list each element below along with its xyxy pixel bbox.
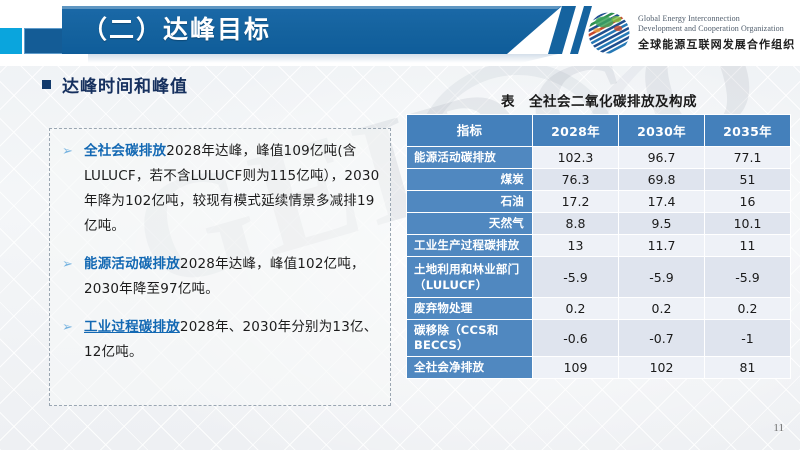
key-point-item: ➢能源活动碳排放2028年达峰，峰值102亿吨，2030年降至97亿吨。 [58, 252, 380, 302]
slide-header: （二）达峰目标 [0, 0, 800, 66]
table-body: 能源活动碳排放102.396.777.1煤炭76.369.851石油17.217… [407, 147, 791, 379]
header-title-bar-highlight [62, 6, 562, 9]
arrow-bullet-icon: ➢ [58, 139, 84, 239]
page-title: （二）达峰目标 [82, 14, 271, 46]
table-row-label: 天然气 [407, 213, 533, 235]
logo-chinese-name: 全球能源互联网发展合作组织 [638, 36, 795, 52]
key-point-keyword: 全社会碳排放 [84, 143, 166, 159]
header-bar-shadow [88, 54, 558, 63]
table-row-label: 工业生产过程碳排放 [407, 235, 533, 257]
organization-logo: Global Energy Interconnection Developmen… [586, 7, 796, 59]
table-cell-value: -1 [705, 320, 791, 357]
table-row: 天然气8.89.510.1 [407, 213, 791, 235]
table-header-year: 2028年 [533, 115, 619, 147]
table-cell-value: -5.9 [705, 257, 791, 298]
table-row: 碳移除（CCS和BECCS）-0.6-0.7-1 [407, 320, 791, 357]
logo-english-line1: Global Energy Interconnection [638, 14, 795, 24]
table-cell-value: -5.9 [619, 257, 705, 298]
table-row-label: 能源活动碳排放 [407, 147, 533, 169]
key-point-item: ➢工业过程碳排放2028年、2030年分别为13亿、12亿吨。 [58, 315, 380, 365]
table-cell-value: 11 [705, 235, 791, 257]
square-bullet-icon [42, 80, 51, 89]
key-point-item: ➢全社会碳排放2028年达峰，峰值109亿吨(含LULUCF，若不含LULUCF… [58, 139, 380, 239]
page-number: 11 [773, 422, 784, 434]
table-row-label: 石油 [407, 191, 533, 213]
arrow-bullet-icon: ➢ [58, 252, 84, 302]
table-cell-value: 0.2 [705, 298, 791, 320]
table-cell-value: 77.1 [705, 147, 791, 169]
table-row-label: 废弃物处理 [407, 298, 533, 320]
table-header-year: 2035年 [705, 115, 791, 147]
key-point-keyword: 能源活动碳排放 [84, 256, 180, 272]
logo-english-line2: Development and Cooperation Organization [638, 24, 795, 34]
table-cell-value: 102.3 [533, 147, 619, 169]
table-cell-value: 9.5 [619, 213, 705, 235]
table-head: 指标2028年2030年2035年 [407, 115, 791, 147]
table-row-label: 全社会净排放 [407, 357, 533, 379]
table-row-label: 煤炭 [407, 169, 533, 191]
key-point-keyword: 工业过程碳排放 [84, 319, 180, 335]
table-cell-value: 69.8 [619, 169, 705, 191]
slide-canvas: GEIDCO （二）达峰目标 [0, 0, 800, 450]
section-heading: 达峰时间和峰值 [42, 72, 188, 97]
table-cell-value: 11.7 [619, 235, 705, 257]
table-row-label: 碳移除（CCS和BECCS） [407, 320, 533, 357]
header-accent-square-cyan [0, 28, 22, 54]
table-cell-value: 0.2 [619, 298, 705, 320]
table-cell-value: 109 [533, 357, 619, 379]
table-cell-value: -0.7 [619, 320, 705, 357]
table-cell-value: 13 [533, 235, 619, 257]
table-row: 石油17.217.416 [407, 191, 791, 213]
globe-icon [586, 10, 632, 56]
table-row: 工业生产过程碳排放1311.711 [407, 235, 791, 257]
table-row: 全社会净排放10910281 [407, 357, 791, 379]
table-cell-value: 10.1 [705, 213, 791, 235]
table-row: 土地利用和林业部门（LULUCF）-5.9-5.9-5.9 [407, 257, 791, 298]
table-cell-value: -0.6 [533, 320, 619, 357]
table-row: 能源活动碳排放102.396.777.1 [407, 147, 791, 169]
table-row: 废弃物处理0.20.20.2 [407, 298, 791, 320]
key-points-panel: ➢全社会碳排放2028年达峰，峰值109亿吨(含LULUCF，若不含LULUCF… [49, 128, 391, 406]
table-cell-value: 102 [619, 357, 705, 379]
table-cell-value: 16 [705, 191, 791, 213]
table-caption: 表 全社会二氧化碳排放及构成 [406, 90, 792, 110]
table-row-label: 土地利用和林业部门（LULUCF） [407, 257, 533, 298]
emissions-table: 指标2028年2030年2035年 能源活动碳排放102.396.777.1煤炭… [406, 114, 791, 379]
table-cell-value: 76.3 [533, 169, 619, 191]
table-cell-value: 96.7 [619, 147, 705, 169]
table-header-year: 2030年 [619, 115, 705, 147]
table-cell-value: 8.8 [533, 213, 619, 235]
table-cell-value: 51 [705, 169, 791, 191]
logo-textblock: Global Energy Interconnection Developmen… [638, 14, 795, 52]
table-cell-value: 0.2 [533, 298, 619, 320]
section-heading-label: 达峰时间和峰值 [62, 72, 188, 97]
key-point-text: 能源活动碳排放2028年达峰，峰值102亿吨，2030年降至97亿吨。 [84, 252, 380, 302]
arrow-bullet-icon: ➢ [58, 315, 84, 365]
table-cell-value: 17.2 [533, 191, 619, 213]
table-row: 煤炭76.369.851 [407, 169, 791, 191]
key-point-text: 工业过程碳排放2028年、2030年分别为13亿、12亿吨。 [84, 315, 380, 365]
table-cell-value: 81 [705, 357, 791, 379]
key-point-text: 全社会碳排放2028年达峰，峰值109亿吨(含LULUCF，若不含LULUCF则… [84, 139, 380, 239]
table-cell-value: -5.9 [533, 257, 619, 298]
table-header-row: 指标2028年2030年2035年 [407, 115, 791, 147]
table-header-indicator: 指标 [407, 115, 533, 147]
table-cell-value: 17.4 [619, 191, 705, 213]
